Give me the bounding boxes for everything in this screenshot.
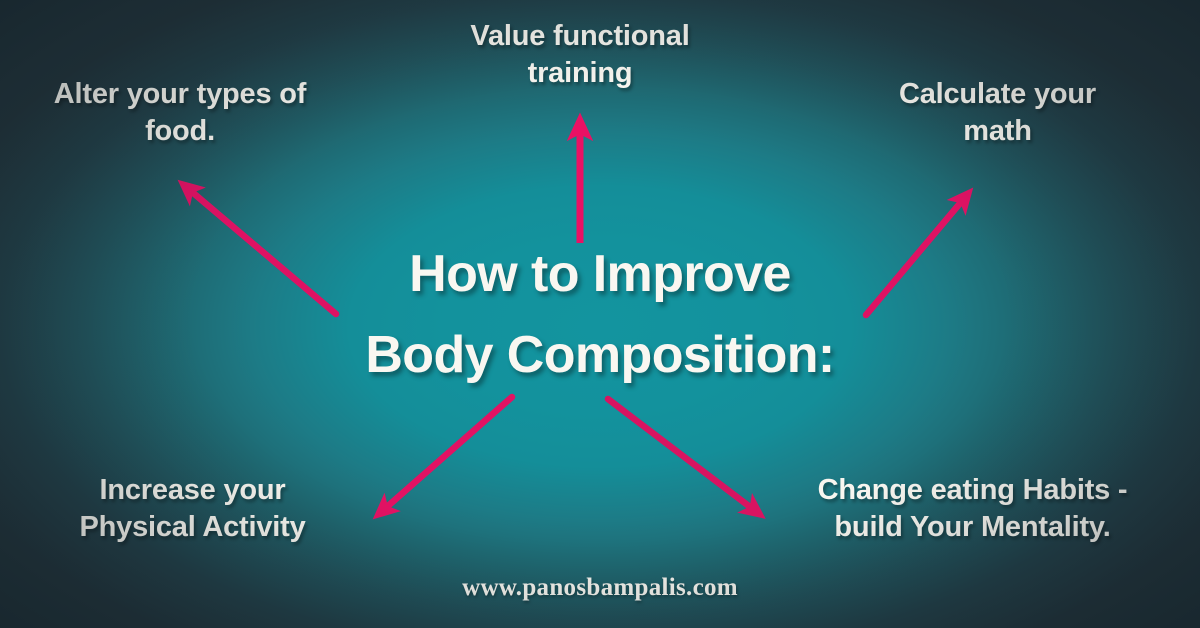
infographic-canvas: Value functional training Alter your typ… [0, 0, 1200, 628]
arrow-to-habits-icon [608, 399, 758, 513]
tip-label-calculate-your-math: Calculate your math [845, 76, 1150, 150]
tip-label-alter-your-types-of-food: Alter your types of food. [6, 76, 354, 150]
arrow-to-activity-icon [380, 397, 512, 513]
tip-label-change-eating-habits: Change eating Habits - build Your Mental… [760, 472, 1185, 546]
tip-label-value-functional-training: Value functional training [430, 18, 730, 92]
tip-label-increase-your-physical-activity: Increase your Physical Activity [30, 472, 355, 546]
page-title: How to Improve Body Composition: [300, 234, 900, 395]
website-url: www.panosbampalis.com [0, 574, 1200, 602]
